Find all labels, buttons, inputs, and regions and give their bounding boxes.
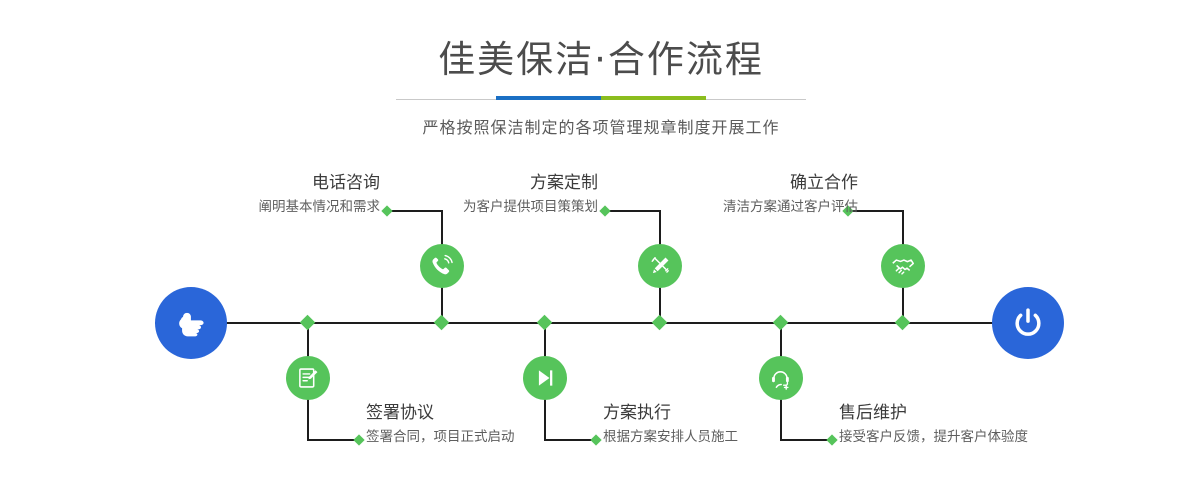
title-divider <box>396 94 806 106</box>
divider-segment-green <box>601 96 706 100</box>
step-desc: 为客户提供项目策策划 <box>366 197 598 217</box>
pointing-hand-icon <box>171 303 211 343</box>
node-plan-custom[interactable] <box>638 244 682 288</box>
node-establish-coop[interactable] <box>881 244 925 288</box>
pencil-ruler-icon <box>647 253 673 279</box>
axis-diamond-plan-custom <box>652 315 668 331</box>
label-after-sales: 售后维护 接受客户反馈，提升客户体验度 <box>839 402 1139 447</box>
flow-diagram: 电话咨询 阐明基本情况和需求 签署协议 签署合同，项目正式启动 <box>0 150 1202 502</box>
phone-call-icon <box>429 253 455 279</box>
handshake-icon <box>890 253 916 279</box>
label-plan-custom: 方案定制 为客户提供项目策策划 <box>366 172 598 217</box>
leader-diamond-sign-agreement <box>353 434 364 445</box>
axis-diamond-establish-coop <box>895 315 911 331</box>
step-title: 方案定制 <box>366 172 598 194</box>
leader-sign-agreement <box>307 439 359 441</box>
step-desc: 阐明基本情况和需求 <box>148 197 380 217</box>
axis-diamond-after-sales <box>773 315 789 331</box>
flow-end-node[interactable] <box>992 287 1064 359</box>
axis-diamond-phone-consult <box>434 315 450 331</box>
process-flow-infographic: 佳美保洁·合作流程 严格按照保洁制定的各项管理规章制度开展工作 <box>0 0 1202 502</box>
step-title: 确立合作 <box>620 172 858 194</box>
node-phone-consult[interactable] <box>420 244 464 288</box>
page-subtitle: 严格按照保洁制定的各项管理规章制度开展工作 <box>0 118 1202 138</box>
headset-agent-add-icon <box>768 365 794 391</box>
header: 佳美保洁·合作流程 严格按照保洁制定的各项管理规章制度开展工作 <box>0 0 1202 138</box>
step-desc: 接受客户反馈，提升客户体验度 <box>839 427 1139 447</box>
divider-segment-blue <box>496 96 601 100</box>
step-desc: 清洁方案通过客户评估 <box>620 197 858 217</box>
play-forward-icon <box>532 365 558 391</box>
step-desc: 根据方案安排人员施工 <box>603 427 863 447</box>
axis-diamond-sign-agreement <box>300 315 316 331</box>
flow-start-node[interactable] <box>155 287 227 359</box>
node-sign-agreement[interactable] <box>286 356 330 400</box>
label-phone-consult: 电话咨询 阐明基本情况和需求 <box>148 172 380 217</box>
leader-diamond-plan-custom <box>599 205 610 216</box>
label-establish-coop: 确立合作 清洁方案通过客户评估 <box>620 172 858 217</box>
power-button-icon <box>1008 303 1048 343</box>
timeline-axis <box>155 322 1047 324</box>
node-plan-execute[interactable] <box>523 356 567 400</box>
axis-diamond-plan-execute <box>537 315 553 331</box>
step-title: 方案执行 <box>603 402 863 424</box>
step-title: 售后维护 <box>839 402 1139 424</box>
step-desc: 签署合同，项目正式启动 <box>366 427 626 447</box>
node-after-sales[interactable] <box>759 356 803 400</box>
document-pencil-icon <box>295 365 321 391</box>
leader-plan-execute <box>544 439 596 441</box>
step-title: 签署协议 <box>366 402 626 424</box>
step-title: 电话咨询 <box>148 172 380 194</box>
page-title: 佳美保洁·合作流程 <box>0 40 1202 80</box>
leader-after-sales <box>780 439 832 441</box>
